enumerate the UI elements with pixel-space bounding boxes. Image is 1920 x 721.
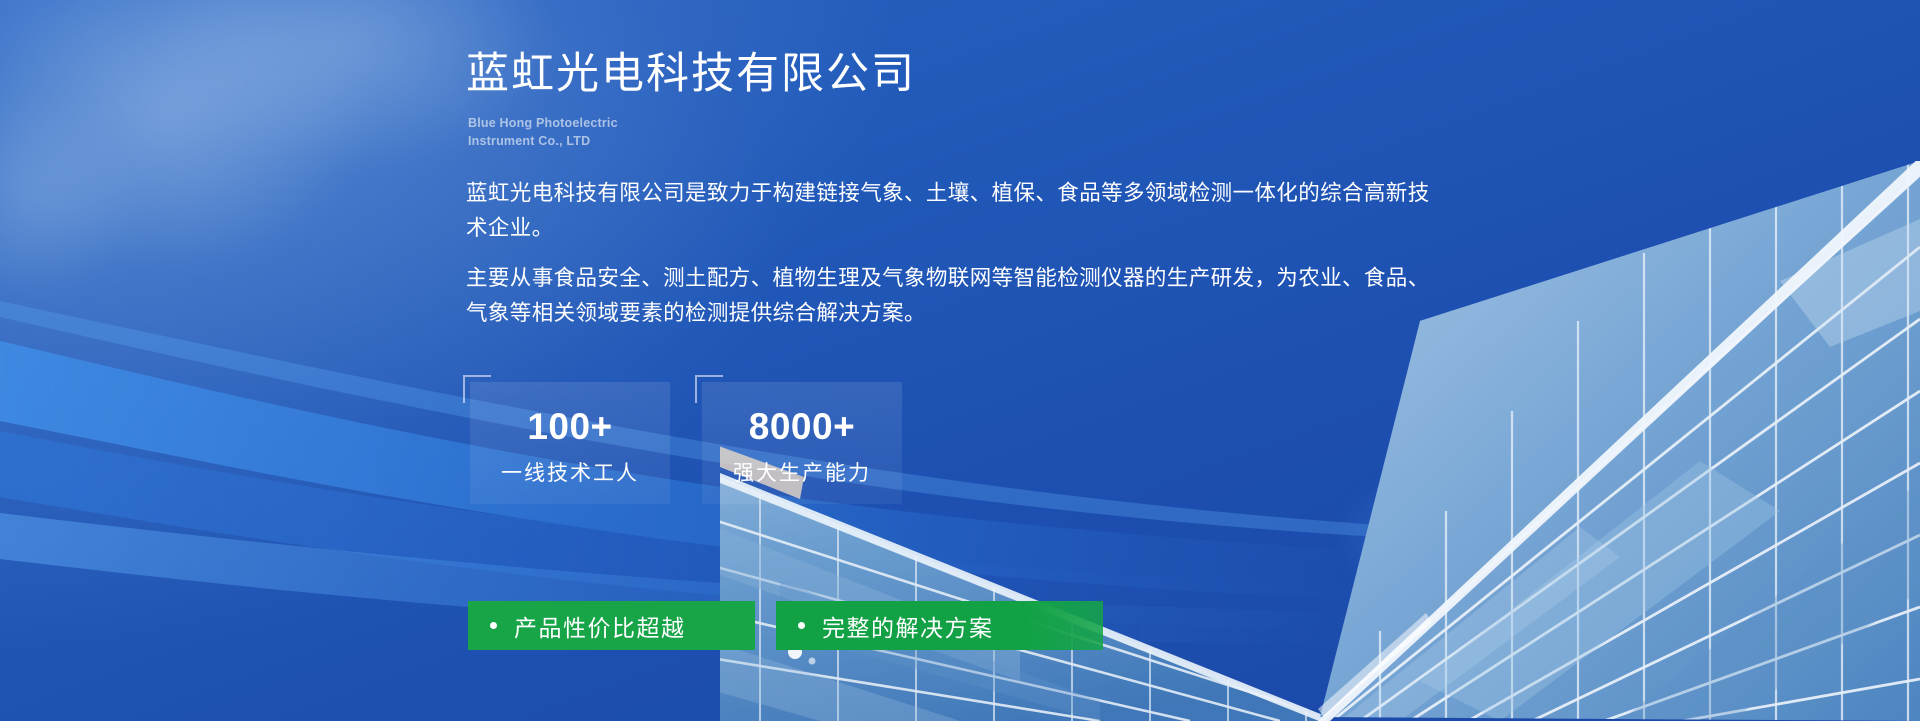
intro-paragraph-1: 蓝虹光电科技有限公司是致力于构建链接气象、土壤、植保、食品等多领域检测一体化的综… bbox=[466, 176, 1451, 246]
feature-tag-value-label: 产品性价比超越 bbox=[514, 609, 686, 643]
page-title: 蓝虹光电科技有限公司 bbox=[466, 50, 916, 99]
stat-value-capacity: 8000+ bbox=[749, 408, 855, 445]
stat-label-workers: 一线技术工人 bbox=[501, 463, 639, 484]
company-english-name-line1: Blue Hong Photoelectric bbox=[468, 114, 618, 132]
feature-tag-group: 产品性价比超越 完整的解决方案 bbox=[468, 601, 1103, 650]
feature-tag-value[interactable]: 产品性价比超越 bbox=[468, 601, 755, 650]
feature-tag-solution[interactable]: 完整的解决方案 bbox=[776, 601, 1103, 650]
intro-paragraph-2: 主要从事食品安全、测土配方、植物生理及气象物联网等智能检测仪器的生产研发，为农业… bbox=[466, 261, 1451, 331]
bullet-dot-icon bbox=[798, 622, 805, 629]
company-english-name-line2: Instrument Co., LTD bbox=[468, 132, 618, 150]
bullet-dot-icon bbox=[490, 622, 497, 629]
stat-card-workers: 100+ 一线技术工人 bbox=[470, 382, 670, 504]
banner-content: 蓝虹光电科技有限公司 Blue Hong Photoelectric Instr… bbox=[466, 0, 1476, 721]
stat-card-group: 100+ 一线技术工人 8000+ 强大生产能力 bbox=[470, 382, 902, 504]
company-english-name: Blue Hong Photoelectric Instrument Co., … bbox=[468, 114, 618, 150]
stat-label-capacity: 强大生产能力 bbox=[733, 463, 871, 484]
company-hero-banner: 蓝虹光电科技有限公司 Blue Hong Photoelectric Instr… bbox=[0, 0, 1920, 721]
stat-card-capacity: 8000+ 强大生产能力 bbox=[702, 382, 902, 504]
stat-value-workers: 100+ bbox=[527, 408, 612, 445]
feature-tag-solution-label: 完整的解决方案 bbox=[822, 609, 994, 643]
